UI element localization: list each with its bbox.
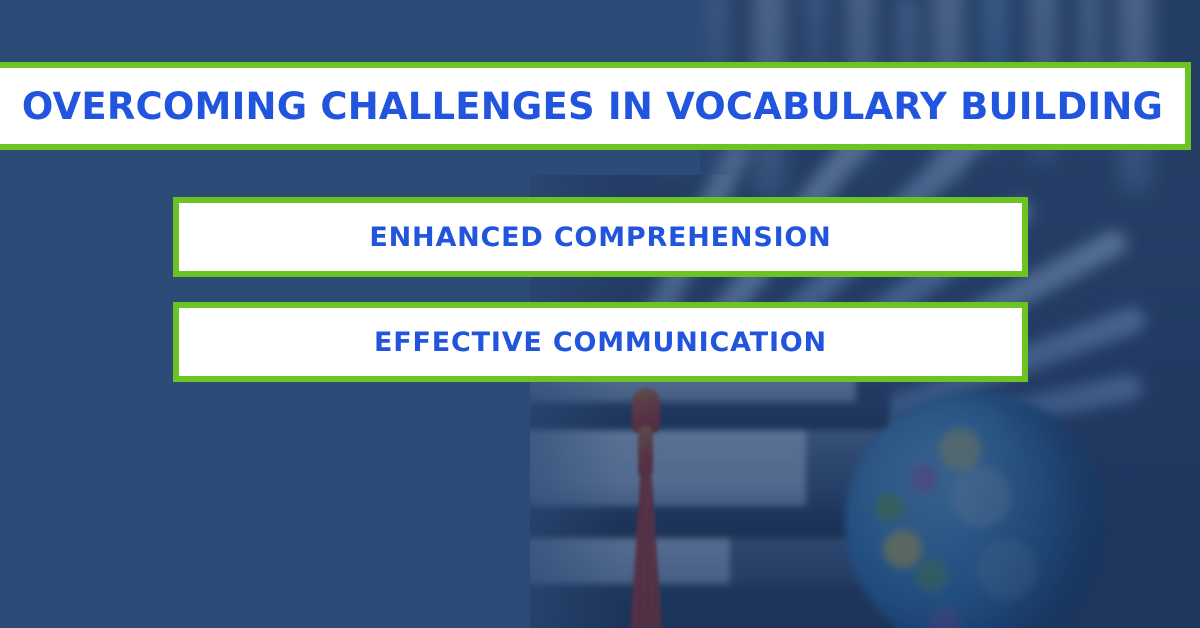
benefit-banner-2: EFFECTIVE COMMUNICATION <box>173 302 1028 382</box>
benefit-banner-1: ENHANCED COMPREHENSION <box>173 197 1028 277</box>
benefit-label-1: ENHANCED COMPREHENSION <box>369 222 831 253</box>
poster-canvas: OVERCOMING CHALLENGES IN VOCABULARY BUIL… <box>0 0 1200 628</box>
title-banner: OVERCOMING CHALLENGES IN VOCABULARY BUIL… <box>0 62 1191 150</box>
benefit-label-2: EFFECTIVE COMMUNICATION <box>374 327 827 358</box>
page-title: OVERCOMING CHALLENGES IN VOCABULARY BUIL… <box>22 85 1163 128</box>
